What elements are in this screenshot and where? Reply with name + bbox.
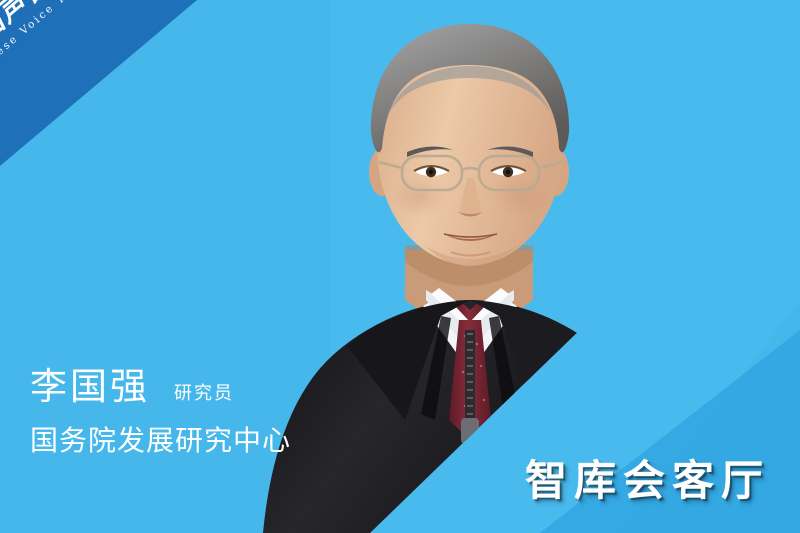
person-caption-row: 李国强 研究员 — [30, 368, 291, 405]
poster-canvas: 国声智库 Chinese Voice Think Tank — [0, 0, 800, 533]
person-name: 李国强 — [30, 368, 150, 405]
person-title: 研究员 — [174, 384, 234, 402]
person-caption: 李国强 研究员 国务院发展研究中心 — [30, 368, 291, 455]
program-title: 智库会客厅 — [525, 447, 770, 508]
person-organization: 国务院发展研究中心 — [30, 427, 291, 455]
